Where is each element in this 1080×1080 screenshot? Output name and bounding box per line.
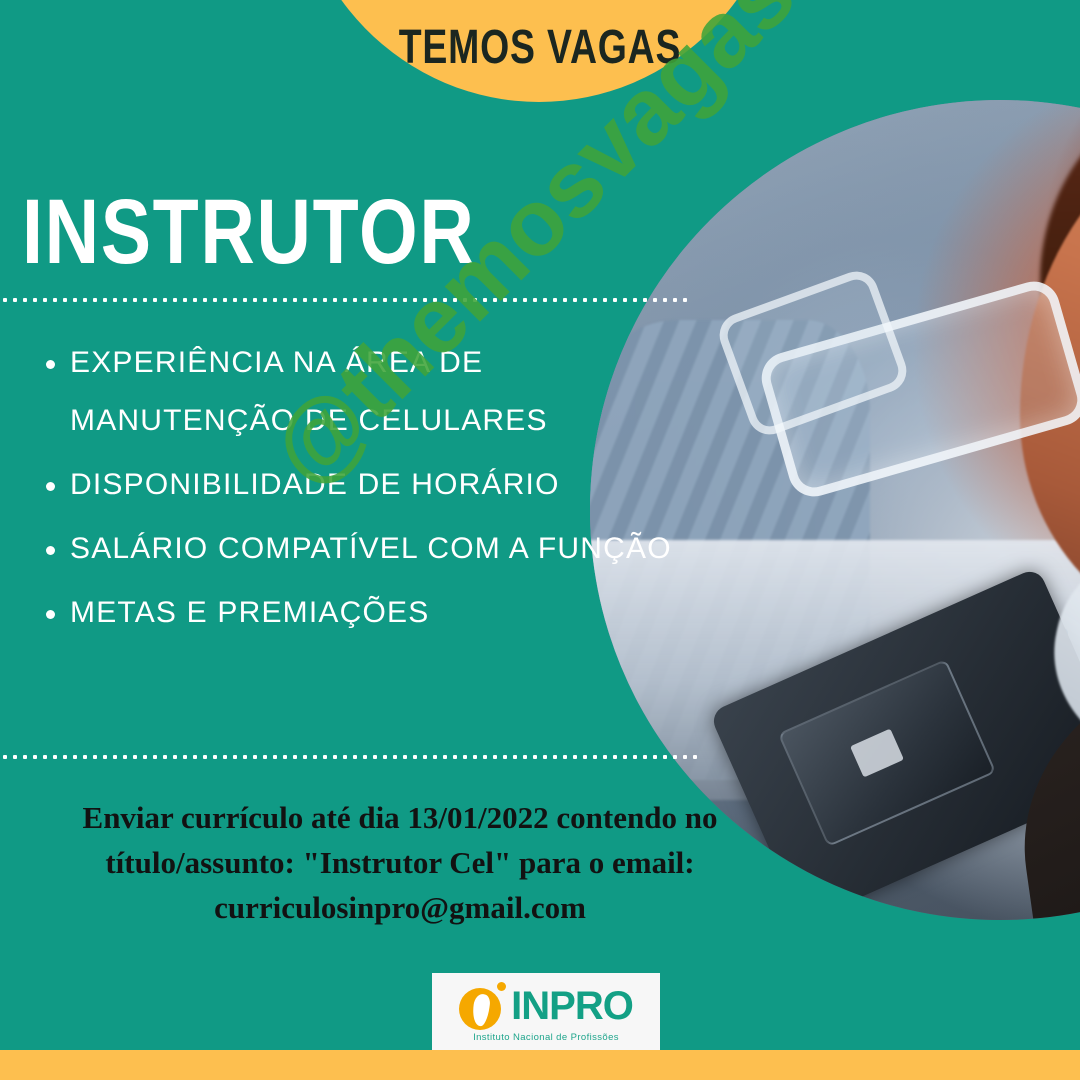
list-item: EXPERIÊNCIA NA ÁREA DE MANUTENÇÃO DE CEL… bbox=[40, 334, 680, 450]
divider-bottom bbox=[0, 755, 700, 759]
banner-label: TEMOS VAGAS bbox=[119, 20, 961, 75]
brazil-map-icon bbox=[459, 982, 507, 1030]
logo-wordmark: INPRO bbox=[511, 986, 633, 1026]
bottom-yellow-bar bbox=[0, 1050, 1080, 1080]
contact-email: curriculosinpro@gmail.com bbox=[0, 885, 800, 930]
list-item: METAS E PREMIAÇÕES bbox=[40, 584, 680, 642]
page-title: INSTRUTOR bbox=[22, 186, 475, 278]
logo-row: INPRO bbox=[459, 982, 633, 1030]
contact-line-2: título/assunto: "Instrutor Cel" para o e… bbox=[0, 840, 800, 885]
contact-instructions: Enviar currículo até dia 13/01/2022 cont… bbox=[0, 795, 800, 930]
logo-dot-shape bbox=[497, 982, 506, 991]
divider-top bbox=[0, 298, 690, 302]
logo-tagline: Instituto Nacional de Profissões bbox=[473, 1032, 619, 1043]
list-item: DISPONIBILIDADE DE HORÁRIO bbox=[40, 456, 680, 514]
list-item: SALÁRIO COMPATÍVEL COM A FUNÇÃO bbox=[40, 520, 680, 578]
contact-line-1: Enviar currículo até dia 13/01/2022 cont… bbox=[0, 795, 800, 840]
requirements-list: EXPERIÊNCIA NA ÁREA DE MANUTENÇÃO DE CEL… bbox=[40, 334, 680, 648]
inpro-logo: INPRO Instituto Nacional de Profissões bbox=[432, 973, 660, 1051]
job-vacancy-poster: TEMOS VAGAS INSTRUTOR EXPERIÊNCIA NA ÁRE… bbox=[0, 0, 1080, 1080]
